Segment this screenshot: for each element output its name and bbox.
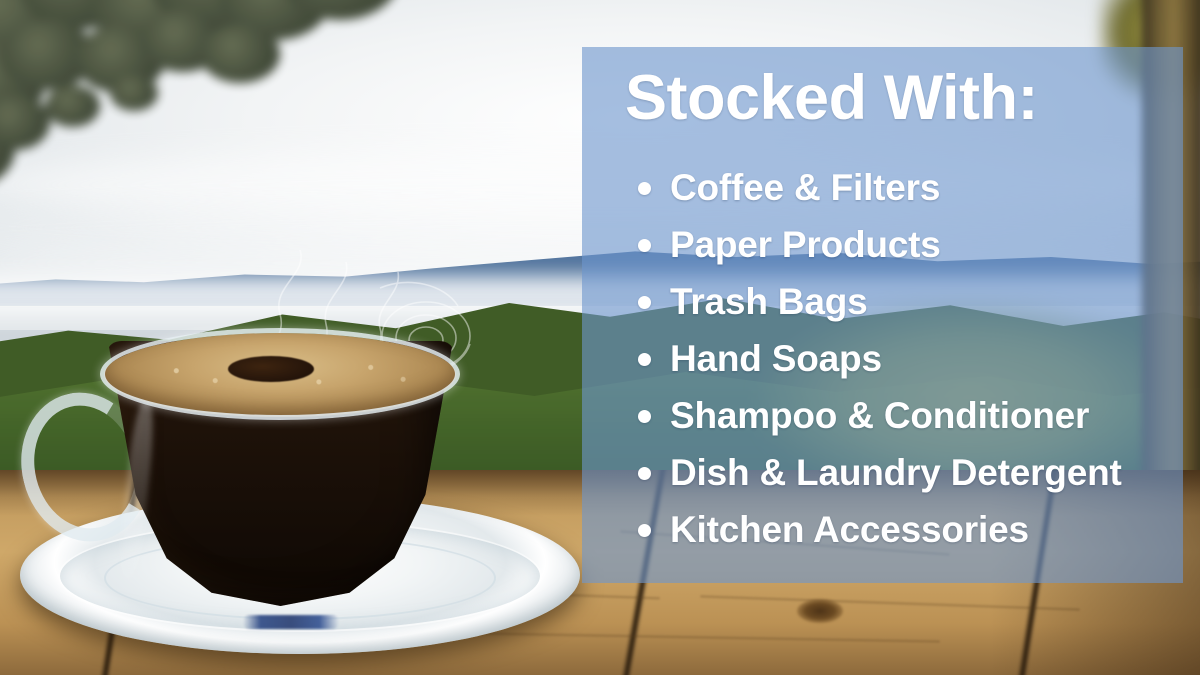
bullet-dot-icon xyxy=(638,296,651,309)
list-item-label: Coffee & Filters xyxy=(670,167,940,209)
stocked-with-panel: Stocked With: Coffee & Filters Paper Pro… xyxy=(582,47,1183,583)
bullet-dot-icon xyxy=(638,410,651,423)
list-item: Paper Products xyxy=(604,216,1177,273)
list-item-label: Kitchen Accessories xyxy=(670,509,1029,551)
list-item: Coffee & Filters xyxy=(604,159,1177,216)
bullet-dot-icon xyxy=(638,524,651,537)
list-item-label: Trash Bags xyxy=(670,281,867,323)
page-title: Stocked With: xyxy=(625,67,1038,130)
list-item: Dish & Laundry Detergent xyxy=(604,444,1177,501)
list-item-label: Paper Products xyxy=(670,224,941,266)
list-item-label: Dish & Laundry Detergent xyxy=(670,452,1122,494)
list-item: Hand Soaps xyxy=(604,330,1177,387)
saucer-logo xyxy=(243,615,339,629)
tree-branch xyxy=(0,0,410,260)
list-item: Shampoo & Conditioner xyxy=(604,387,1177,444)
stocked-items-list: Coffee & Filters Paper Products Trash Ba… xyxy=(604,159,1177,558)
bullet-dot-icon xyxy=(638,467,651,480)
wood-knot xyxy=(797,599,843,623)
bullet-dot-icon xyxy=(638,353,651,366)
bullet-dot-icon xyxy=(638,182,651,195)
bullet-dot-icon xyxy=(638,239,651,252)
list-item-label: Hand Soaps xyxy=(670,338,882,380)
list-item: Trash Bags xyxy=(604,273,1177,330)
list-item-label: Shampoo & Conditioner xyxy=(670,395,1089,437)
slide-canvas: Stocked With: Coffee & Filters Paper Pro… xyxy=(0,0,1200,675)
cup-rim xyxy=(100,328,460,420)
list-item: Kitchen Accessories xyxy=(604,501,1177,558)
